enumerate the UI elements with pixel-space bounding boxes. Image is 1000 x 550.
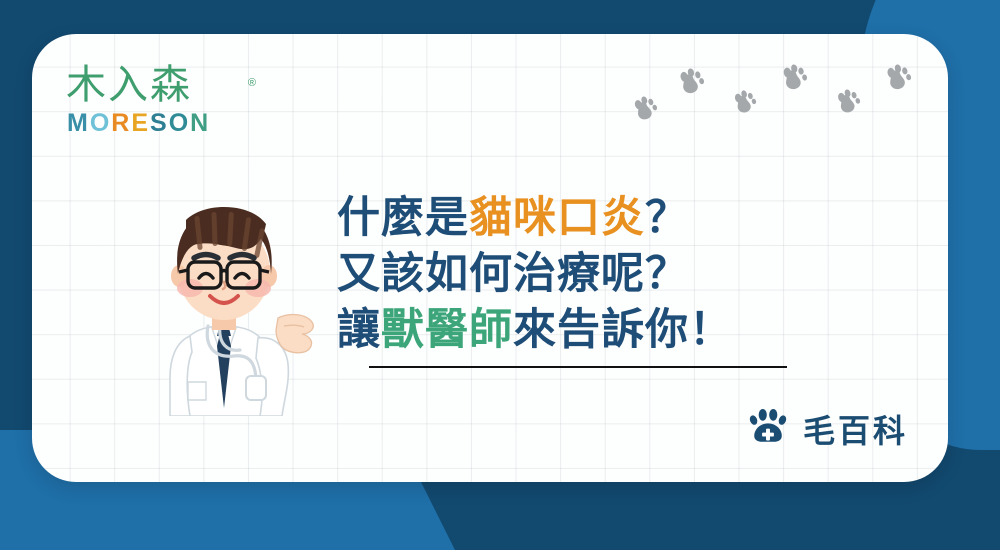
headline-l3-seg3: 來告訴你！ [513,305,733,355]
paw-print-icon [881,61,915,95]
headline-l1-seg1: 什麼是 [337,193,469,243]
paw-print-icon [777,61,810,94]
paw-print-trail [32,34,948,164]
content-card: 木入森 ® MORESON [32,34,948,482]
headline-l3-seg1: 讓 [337,305,381,355]
poster-canvas: 木入森 ® MORESON [0,0,1000,550]
footer-brand: 毛百科 [747,405,908,452]
paw-with-cross-icon [747,405,789,452]
paw-print-icon [729,87,760,118]
paw-print-icon [674,65,708,99]
headline-underline-rule [369,366,787,368]
footer-brand-label: 毛百科 [803,406,908,452]
headline-l1-seg3: ？ [645,193,689,243]
headline-line-1: 什麼是貓咪口炎？ [337,190,807,246]
cartoon-veterinarian-illustration [124,186,324,416]
headline-block: 什麼是貓咪口炎？ 又該如何治療呢？ 讓獸醫師來告訴你！ [337,190,807,368]
headline-line-3: 讓獸醫師來告訴你！ [337,302,807,358]
headline-l1-seg2-highlight: 貓咪口炎 [469,193,645,243]
paw-print-icon [629,93,662,126]
paw-print-icon [832,86,864,118]
headline-l3-seg2-highlight: 獸醫師 [381,305,513,355]
headline-line-2: 又該如何治療呢？ [337,246,807,302]
headline-l2-seg1: 又該如何治療呢？ [337,249,689,299]
